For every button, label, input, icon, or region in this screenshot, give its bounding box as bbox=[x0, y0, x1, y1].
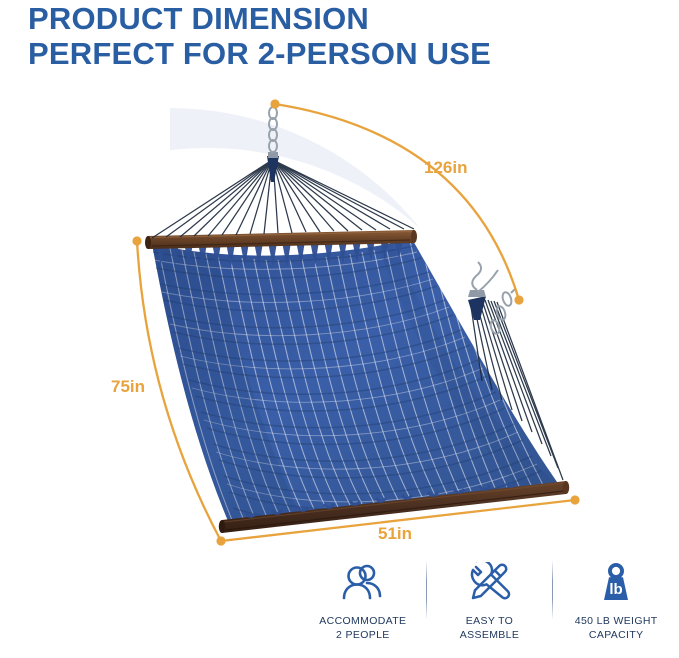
feature-capacity-line-2: CAPACITY bbox=[575, 629, 658, 643]
arc-126-endpoint-bottom bbox=[514, 295, 523, 304]
line-75-endpoint-top bbox=[132, 236, 141, 245]
line-75-curve bbox=[137, 241, 221, 541]
two-people-icon bbox=[341, 558, 385, 606]
tools-icon bbox=[469, 558, 511, 606]
feature-assembly: EASY TO ASSEMBLE bbox=[427, 558, 553, 643]
dimension-label-length: 126in bbox=[424, 158, 467, 178]
feature-accommodate-line-2: 2 PEOPLE bbox=[319, 629, 406, 643]
weight-icon-glyph: lb bbox=[610, 581, 623, 598]
dimension-label-width: 51in bbox=[378, 524, 412, 544]
infographic-canvas: PRODUCT DIMENSION PERFECT FOR 2-PERSON U… bbox=[0, 0, 679, 658]
feature-capacity-line-1: 450 LB WEIGHT bbox=[575, 615, 658, 629]
feature-assembly-line-2: ASSEMBLE bbox=[460, 629, 519, 643]
arc-126-endpoint-top bbox=[270, 99, 279, 108]
title-line-1: PRODUCT DIMENSION bbox=[28, 2, 648, 37]
feature-capacity-label: 450 LB WEIGHT CAPACITY bbox=[575, 615, 658, 643]
feature-accommodate-line-1: ACCOMMODATE bbox=[319, 615, 406, 629]
arc-126-line bbox=[275, 104, 519, 300]
feature-capacity: lb 450 LB WEIGHT CAPACITY bbox=[553, 558, 679, 643]
feature-strip: ACCOMMODATE 2 PEOPLE EASY TO ASSEMBLE bbox=[300, 558, 679, 658]
feature-accommodate: ACCOMMODATE 2 PEOPLE bbox=[300, 558, 426, 643]
feature-assembly-label: EASY TO ASSEMBLE bbox=[460, 615, 519, 643]
weight-icon: lb bbox=[596, 558, 636, 606]
line-51-endpoint-right bbox=[570, 495, 579, 504]
feature-assembly-line-1: EASY TO bbox=[460, 615, 519, 629]
title-line-2: PERFECT FOR 2-PERSON USE bbox=[28, 37, 648, 72]
page-title: PRODUCT DIMENSION PERFECT FOR 2-PERSON U… bbox=[28, 2, 648, 71]
feature-accommodate-label: ACCOMMODATE 2 PEOPLE bbox=[319, 615, 406, 643]
dimension-label-height: 75in bbox=[111, 377, 145, 397]
